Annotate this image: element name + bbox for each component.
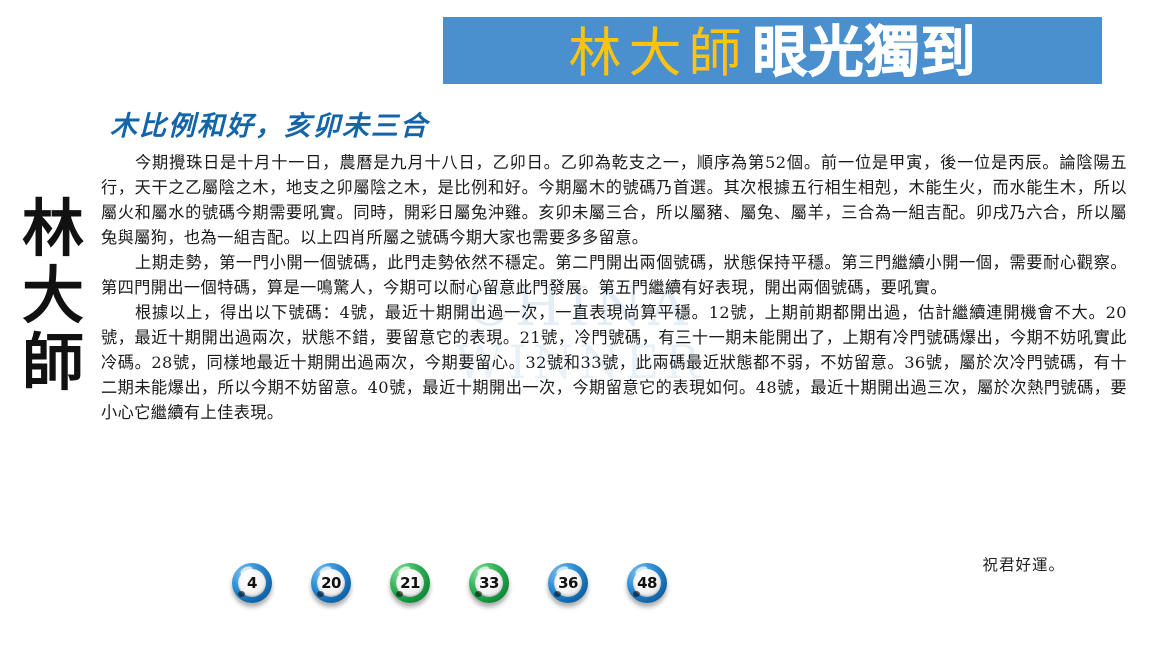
article-body: 今期攪珠日是十月十一日，農曆是九月十八日，乙卯日。乙卯為乾支之一，順序為第52個… (101, 150, 1127, 425)
page-title: 木比例和好，亥卯未三合 (110, 104, 429, 143)
paragraph: 上期走勢，第一門小開一個號碼，此門走勢依然不穩定。第二門開出兩個號碼，狀態保持平… (101, 250, 1127, 300)
lottery-ball-face: 20 (317, 569, 345, 597)
header-banner: 林大師 眼光獨到 (443, 17, 1102, 84)
lottery-ball-face: 36 (554, 569, 582, 597)
vertical-brand-char-2: 大 (14, 263, 92, 330)
lottery-ball: 4 (232, 563, 272, 603)
lottery-ball-row: 4 20 21 33 36 (232, 563, 682, 603)
lottery-ball-number: 21 (400, 576, 420, 591)
header-banner-inner: 林大師 眼光獨到 (568, 25, 976, 80)
closing-greeting: 祝君好運。 (982, 553, 1065, 575)
lottery-ball-face: 33 (475, 569, 503, 597)
vertical-brand: 林 大 師 (14, 196, 92, 397)
lottery-ball-face: 48 (633, 569, 661, 597)
vertical-brand-char-3: 師 (14, 330, 92, 397)
lottery-ball-face: 21 (396, 569, 424, 597)
paragraph: 今期攪珠日是十月十一日，農曆是九月十八日，乙卯日。乙卯為乾支之一，順序為第52個… (101, 150, 1127, 250)
lottery-ball-number: 20 (321, 576, 341, 591)
banner-title-yellow: 林大師 (568, 27, 748, 80)
lottery-ball: 21 (390, 563, 430, 603)
lottery-ball-number: 4 (247, 576, 257, 591)
lottery-ball-face: 4 (238, 569, 266, 597)
lottery-ball-number: 36 (558, 576, 578, 591)
lottery-ball: 20 (311, 563, 351, 603)
paragraph: 根據以上，得出以下號碼：4號，最近十期開出過一次，一直表現尚算平穩。12號，上期… (101, 300, 1127, 425)
lottery-ball-number: 33 (479, 576, 499, 591)
lottery-ball: 36 (548, 563, 588, 603)
banner-title-white: 眼光獨到 (752, 25, 976, 80)
lottery-ball: 33 (469, 563, 509, 603)
lottery-ball: 48 (627, 563, 667, 603)
lottery-ball-number: 48 (637, 576, 657, 591)
page-root: CHINA WINNER 林大師 眼光獨到 林 大 師 木比例和好，亥卯未三合 … (0, 0, 1161, 669)
vertical-brand-char-1: 林 (14, 196, 92, 263)
